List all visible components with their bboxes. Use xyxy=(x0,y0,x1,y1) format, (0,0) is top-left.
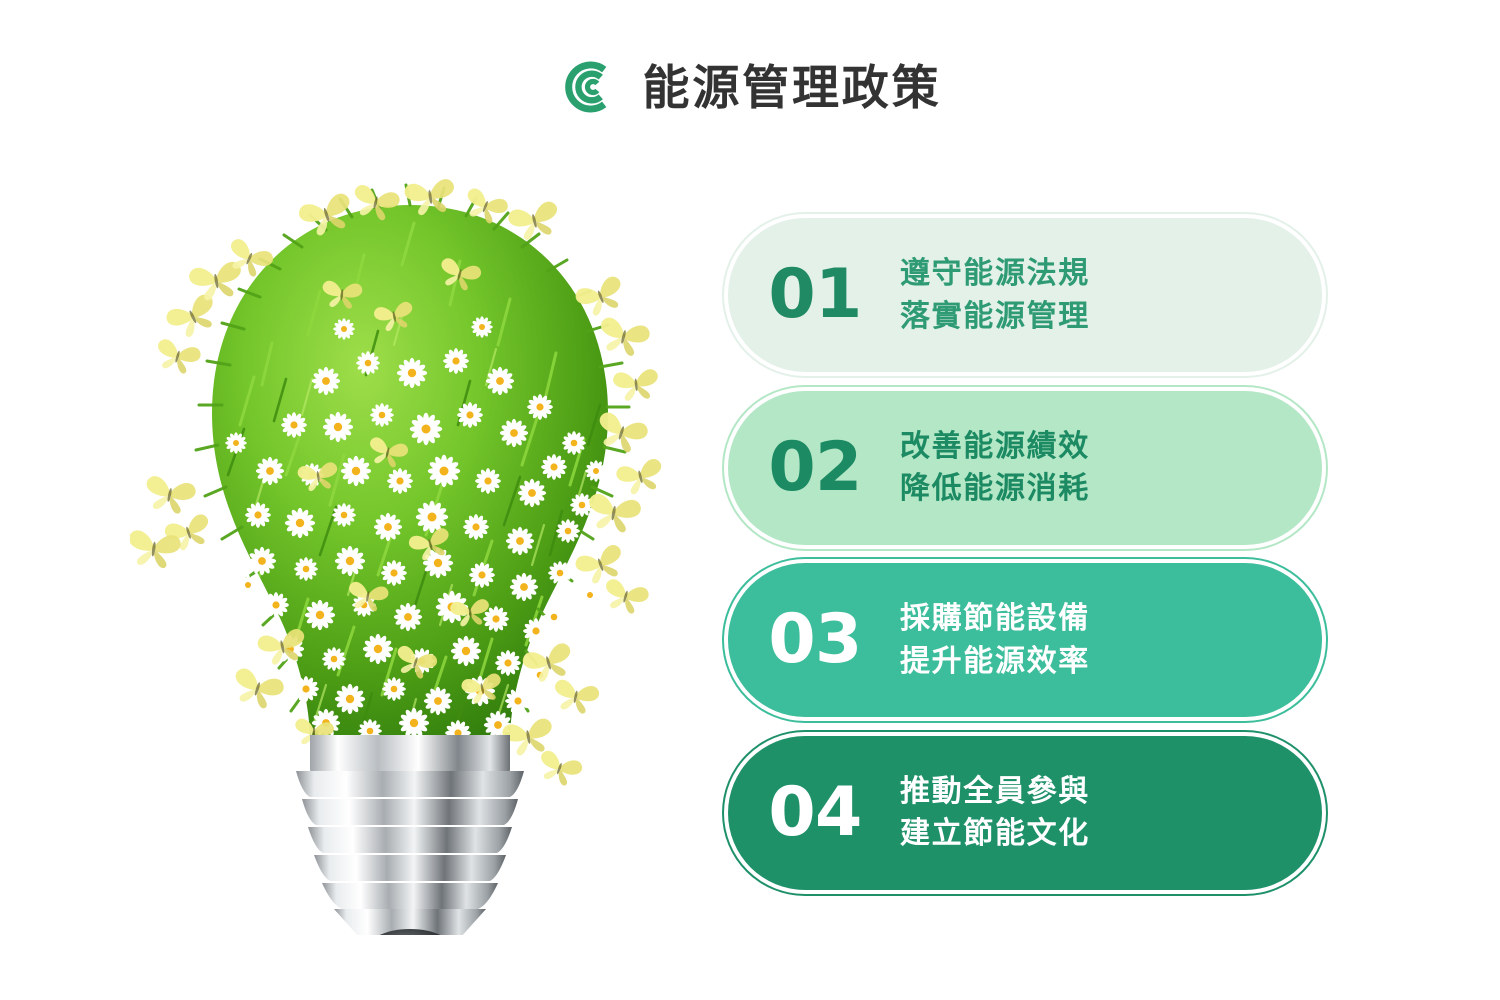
policy-card-03[interactable]: 03 採購節能設備 提升能源效率 xyxy=(728,563,1322,717)
grass-lightbulb-svg xyxy=(130,175,690,935)
butterfly-icon xyxy=(229,666,286,712)
butterfly-icon xyxy=(164,292,223,343)
policy-number-02: 02 xyxy=(730,434,900,502)
policy-text-02: 改善能源績效 降低能源消耗 xyxy=(900,429,1320,507)
policy-number-01: 01 xyxy=(730,261,900,329)
page-title: 能源管理政策 xyxy=(643,64,942,111)
butterfly-icon xyxy=(142,475,197,517)
butterfly-icon xyxy=(612,369,660,403)
butterfly-icon xyxy=(595,316,651,359)
policy-line: 提升能源效率 xyxy=(900,644,1090,679)
infographic-page: 能源管理政策 xyxy=(0,0,1500,1000)
butterfly-icon xyxy=(551,678,601,716)
policy-card-list: 01 遵守能源法規 落實能源管理 02 改善能源績效 降低能源消耗 03 採購節… xyxy=(728,218,1322,890)
policy-line: 遵守能源法規 xyxy=(900,256,1090,291)
policy-line: 採購節能設備 xyxy=(900,601,1090,636)
policy-line: 降低能源消耗 xyxy=(900,471,1090,506)
daisy-icon xyxy=(237,574,259,596)
policy-number-04: 04 xyxy=(730,779,900,847)
policy-line: 推動全員參與 xyxy=(900,774,1090,809)
policy-card-04[interactable]: 04 推動全員參與 建立節能文化 xyxy=(728,736,1322,890)
butterfly-icon xyxy=(615,457,667,497)
daisy-icon xyxy=(579,584,601,606)
policy-text-01: 遵守能源法規 落實能源管理 xyxy=(900,256,1320,334)
policy-text-03: 採購節能設備 提升能源效率 xyxy=(900,601,1320,679)
butterfly-icon xyxy=(585,492,642,534)
butterfly-icon xyxy=(152,337,202,376)
policy-line: 改善能源績效 xyxy=(900,429,1090,464)
bulb-metal-base xyxy=(296,735,524,935)
policy-text-04: 推動全員參與 建立節能文化 xyxy=(900,774,1320,852)
butterfly-icon xyxy=(573,543,628,588)
concentric-c-logo-icon xyxy=(559,58,617,116)
policy-number-03: 03 xyxy=(730,606,900,674)
page-header: 能源管理政策 xyxy=(0,58,1500,116)
policy-line: 落實能源管理 xyxy=(900,299,1090,334)
butterfly-icon xyxy=(600,577,650,616)
policy-line: 建立節能文化 xyxy=(900,816,1090,851)
policy-card-01[interactable]: 01 遵守能源法規 落實能源管理 xyxy=(728,218,1322,372)
grass-lightbulb-illustration xyxy=(130,175,690,935)
policy-card-02[interactable]: 02 改善能源績效 降低能源消耗 xyxy=(728,391,1322,545)
butterfly-icon xyxy=(534,749,584,790)
